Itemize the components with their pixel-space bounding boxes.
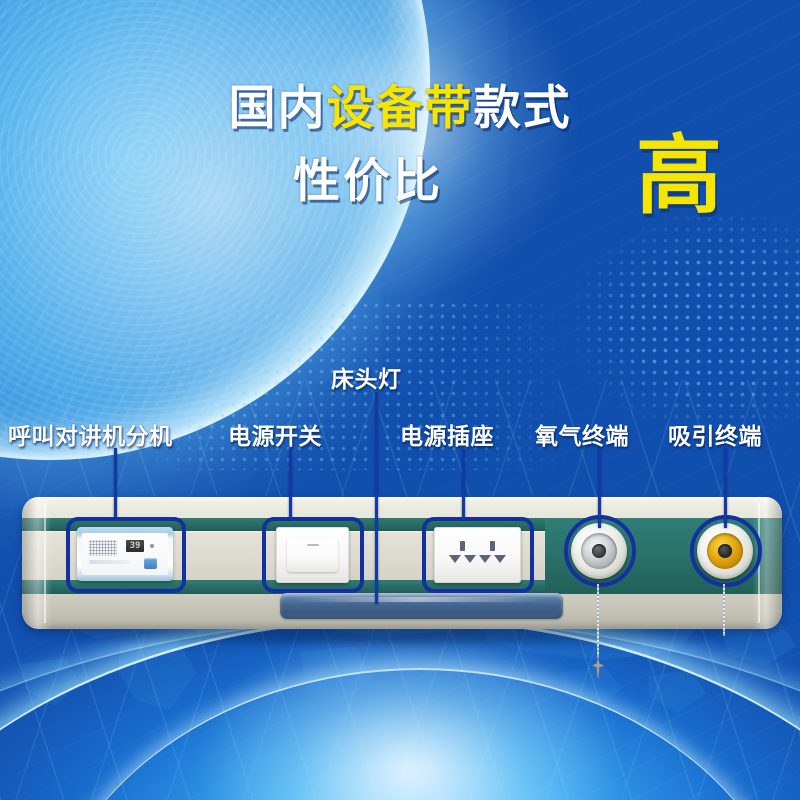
callout-label-call-intercom: 呼叫对讲机分机 xyxy=(8,417,173,451)
headline-line-2: 性价比 xyxy=(293,157,443,204)
leader-line-oxygen-terminal xyxy=(598,448,601,528)
leader-line-bed-lamp xyxy=(375,392,378,604)
leader-line-power-socket xyxy=(462,448,465,520)
callout-label-bed-lamp: 床头灯 xyxy=(331,360,402,394)
headline-part-3: 款式 xyxy=(474,81,572,134)
callout-label-suction-terminal: 吸引终端 xyxy=(668,417,762,451)
promo-image: 国内设备带款式 性价比 高 呼叫对讲机分机 电源开关 床头灯 电源插座 氧气终端… xyxy=(0,0,800,800)
headline-part-1: 国内 xyxy=(229,81,327,134)
headline-part-2: 设备带 xyxy=(327,81,474,134)
headline-block: 国内设备带款式 性价比 高 xyxy=(0,84,800,241)
leader-line-suction-terminal xyxy=(724,448,727,528)
callout-label-power-socket: 电源插座 xyxy=(400,417,494,451)
callout-label-oxygen-terminal: 氧气终端 xyxy=(535,417,629,451)
callout-label-power-switch: 电源开关 xyxy=(228,417,322,451)
leader-line-call-intercom xyxy=(114,448,117,518)
leader-line-power-switch xyxy=(289,448,292,520)
headline-line-1: 国内设备带款式 xyxy=(0,84,800,131)
headline-emphasis: 高 xyxy=(636,133,722,219)
